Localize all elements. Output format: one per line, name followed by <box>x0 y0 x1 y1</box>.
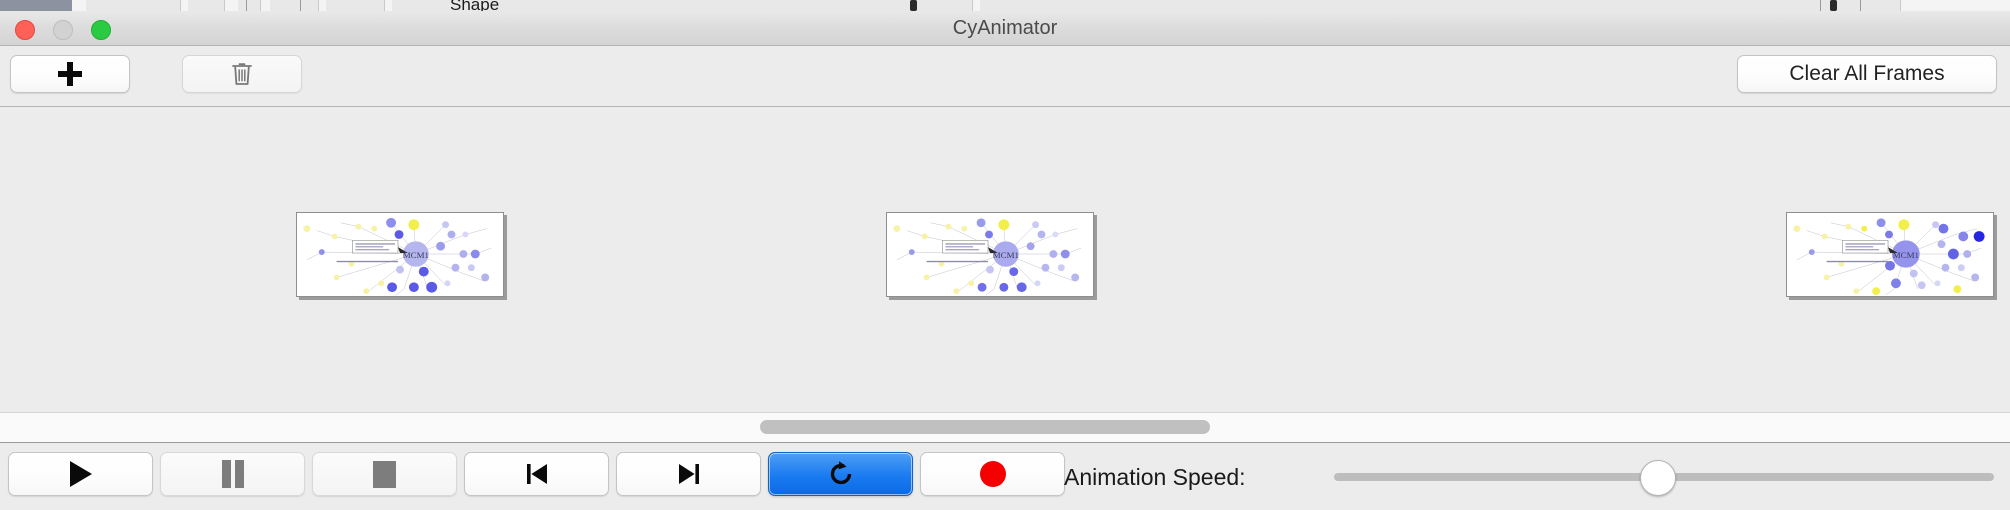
trash-icon <box>231 61 253 87</box>
timeline-panel[interactable]: MCM1 <box>0 107 2010 412</box>
play-icon <box>70 461 92 487</box>
plus-icon <box>58 62 82 86</box>
stop-button[interactable] <box>312 452 457 496</box>
skip-to-end-icon <box>675 460 703 488</box>
scrollbar-thumb[interactable] <box>760 420 1210 434</box>
pause-icon <box>221 460 245 488</box>
skip-to-end-button[interactable] <box>616 452 761 496</box>
animation-speed-slider[interactable] <box>1334 443 1994 510</box>
record-icon <box>980 461 1006 487</box>
skip-to-start-icon <box>523 460 551 488</box>
frame-thumbnail[interactable]: MCM1 <box>886 212 1094 297</box>
add-frame-button[interactable] <box>10 55 130 93</box>
svg-text:MCM1: MCM1 <box>993 250 1019 260</box>
loop-button[interactable] <box>768 452 913 496</box>
background-window-tab <box>0 0 72 11</box>
cyanimator-window: Shape CyAnimator Clear All Frames <box>0 0 2010 510</box>
clear-all-frames-button[interactable]: Clear All Frames <box>1737 55 1997 93</box>
stop-icon <box>373 461 396 488</box>
background-window-label: Shape <box>450 0 499 11</box>
animation-speed-label: Animation Speed: <box>1064 443 1246 510</box>
play-button[interactable] <box>8 452 153 496</box>
network-graph-icon: MCM1 <box>297 213 503 296</box>
delete-frame-button[interactable] <box>182 55 302 93</box>
network-graph-icon: MCM1 <box>1787 213 1993 296</box>
skip-to-start-button[interactable] <box>464 452 609 496</box>
svg-text:MCM1: MCM1 <box>1893 250 1919 260</box>
slider-thumb[interactable] <box>1640 460 1676 496</box>
window-title: CyAnimator <box>0 11 2010 46</box>
titlebar: CyAnimator <box>0 11 2010 46</box>
background-window-strip: Shape <box>0 0 2010 11</box>
network-graph-icon: MCM1 <box>887 213 1093 296</box>
record-button[interactable] <box>920 452 1065 496</box>
svg-text:MCM1: MCM1 <box>403 250 429 260</box>
frame-thumbnail[interactable]: MCM1 <box>296 212 504 297</box>
playback-controlbar: Animation Speed: <box>0 442 2010 510</box>
frame-thumbnail[interactable]: MCM1 <box>1786 212 1994 297</box>
timeline-scrollbar[interactable] <box>0 412 2010 442</box>
loop-icon <box>826 459 856 489</box>
pause-button[interactable] <box>160 452 305 496</box>
